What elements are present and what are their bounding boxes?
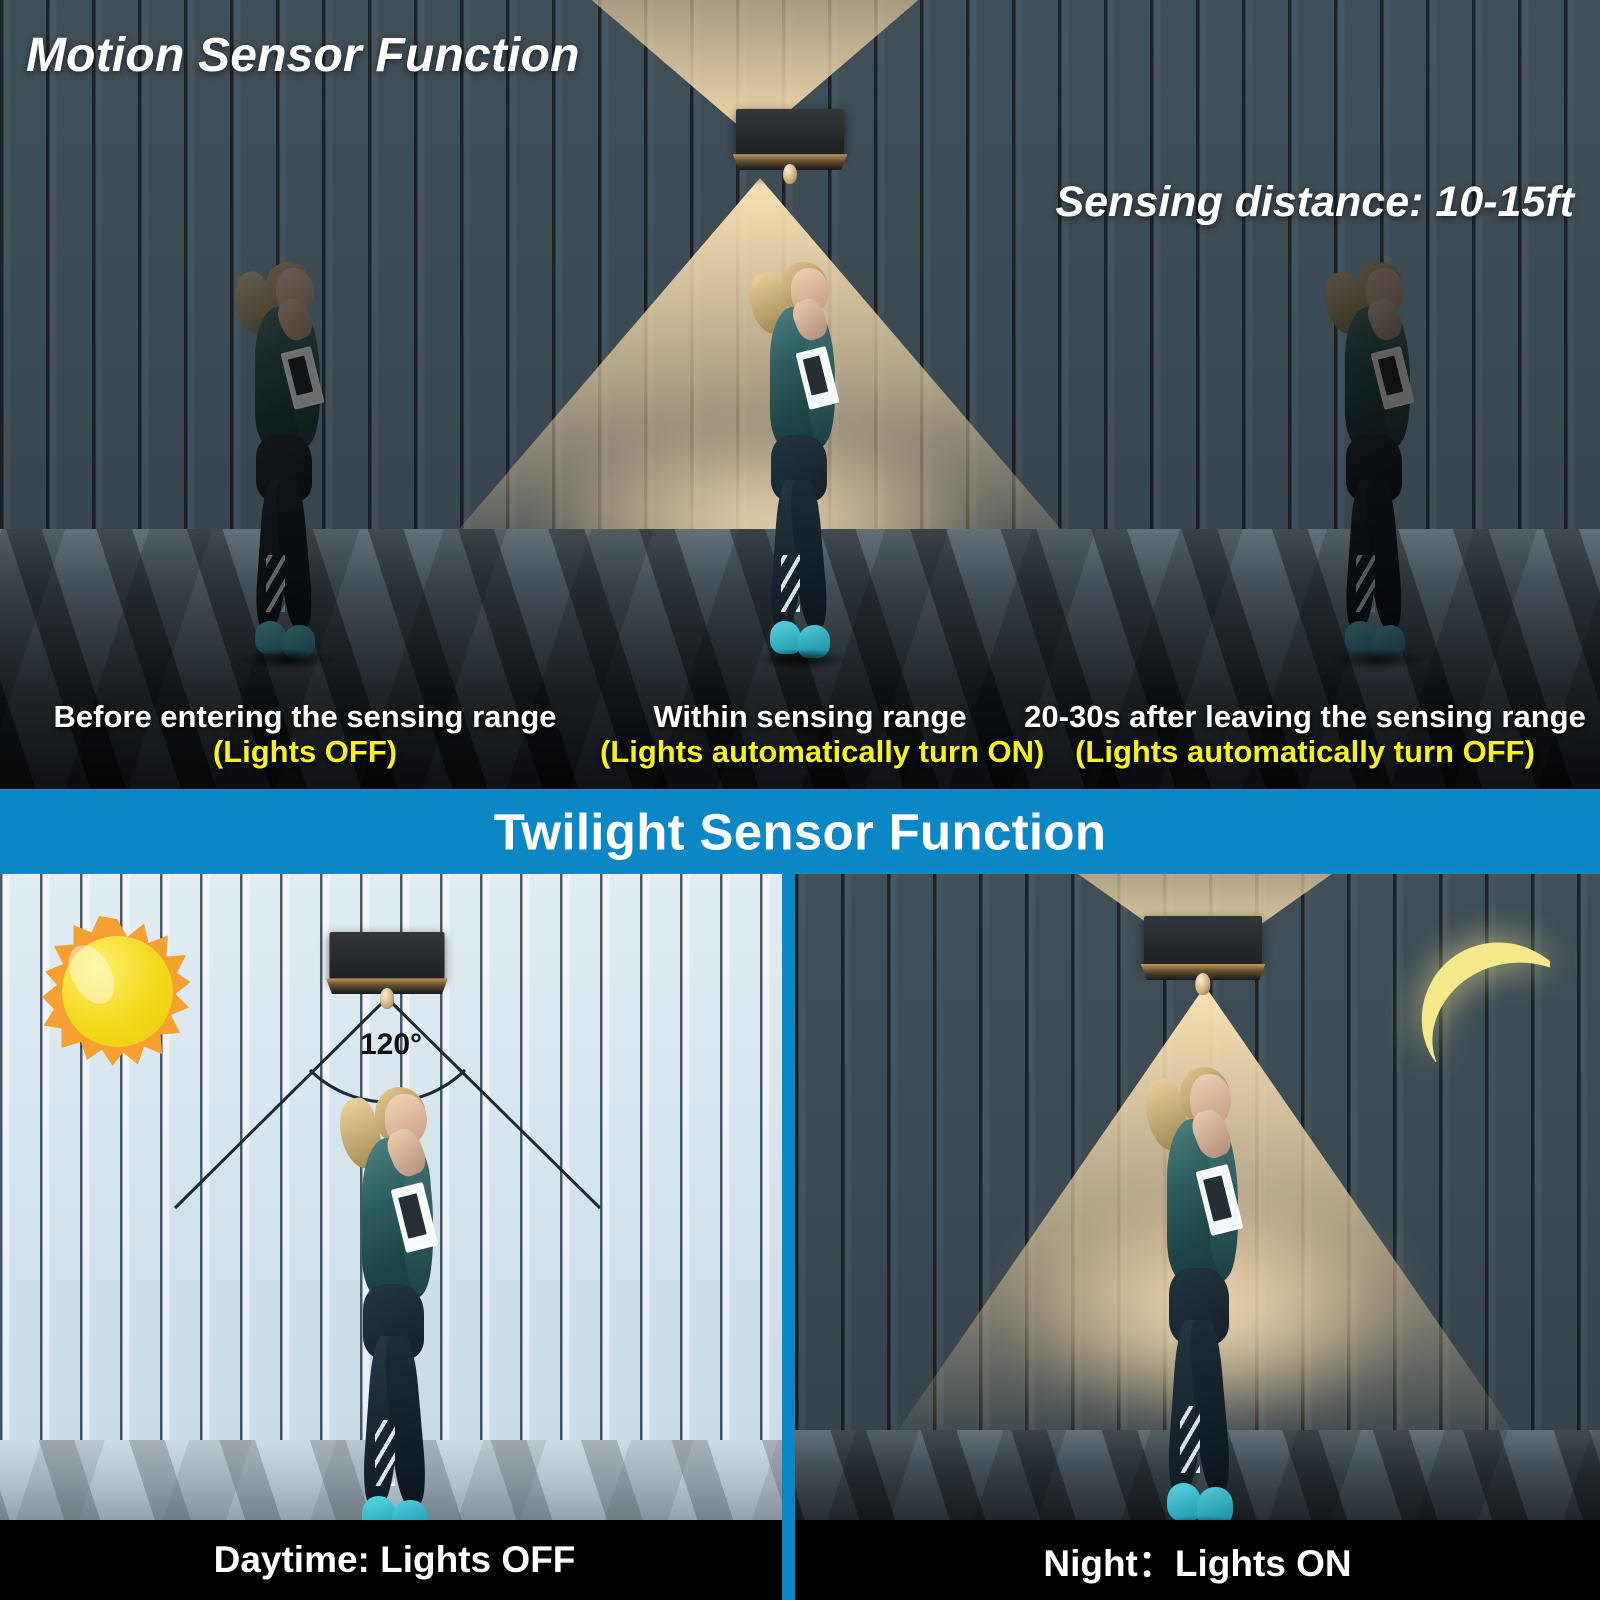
caption-after-leaving-line1: 20-30s after leaving the sensing range	[1010, 700, 1600, 735]
night-footer-bar: Night：Lights ON	[795, 1520, 1600, 1600]
motion-sensor-lens	[783, 164, 797, 184]
wall-lamp-fixture	[736, 109, 844, 187]
caption-within-range-line1: Within sensing range	[600, 700, 1020, 735]
caption-within-range-line2: (Lights automatically turn ON)	[600, 735, 1020, 770]
twilight-banner: Twilight Sensor Function	[0, 789, 1600, 874]
caption-before-range-line2: (Lights OFF)	[0, 735, 610, 770]
daytime-footer-label: Daytime: Lights OFF	[214, 1539, 576, 1581]
caption-before-range: Before entering the sensing range (Light…	[0, 700, 610, 769]
twilight-banner-title: Twilight Sensor Function	[494, 802, 1107, 861]
night-footer-label: Night：Lights ON	[1043, 1533, 1351, 1587]
person-after-leaving-range	[1317, 258, 1433, 670]
page-title: Motion Sensor Function	[26, 28, 580, 83]
person-within-range	[742, 258, 858, 670]
person-night	[1137, 1062, 1263, 1540]
lamp-body	[1144, 916, 1262, 967]
lamp-body	[330, 932, 445, 982]
sun-icon	[42, 916, 192, 1066]
motion-sensor-lens	[1195, 973, 1210, 994]
wall-lamp-fixture-night	[1144, 916, 1262, 998]
sensing-distance-label: Sensing distance: 10-15ft	[1055, 178, 1574, 227]
infographic-root: Motion Sensor Function Sensing distance:…	[0, 0, 1600, 1600]
caption-after-leaving-line2: (Lights automatically turn OFF)	[1010, 735, 1600, 770]
motion-sensor-lens	[380, 988, 395, 1009]
moon-crescent	[1410, 922, 1550, 1062]
daytime-panel: 120° Daytime: Lights OFF	[0, 874, 789, 1600]
motion-sensor-panel: Motion Sensor Function Sensing distance:…	[0, 0, 1600, 789]
person-daytime	[331, 1082, 459, 1552]
moon-icon	[1410, 922, 1550, 1072]
caption-after-leaving: 20-30s after leaving the sensing range (…	[1010, 700, 1600, 769]
wall-lamp-fixture-day	[330, 932, 445, 1012]
person-before-range	[227, 258, 343, 670]
panel-divider	[782, 874, 795, 1600]
night-panel: Night：Lights ON	[795, 874, 1600, 1600]
caption-within-range: Within sensing range (Lights automatical…	[600, 700, 1020, 769]
daytime-footer-bar: Daytime: Lights OFF	[0, 1520, 789, 1600]
lamp-body	[736, 109, 844, 157]
angle-label: 120°	[360, 1028, 422, 1062]
caption-before-range-line1: Before entering the sensing range	[0, 700, 610, 735]
